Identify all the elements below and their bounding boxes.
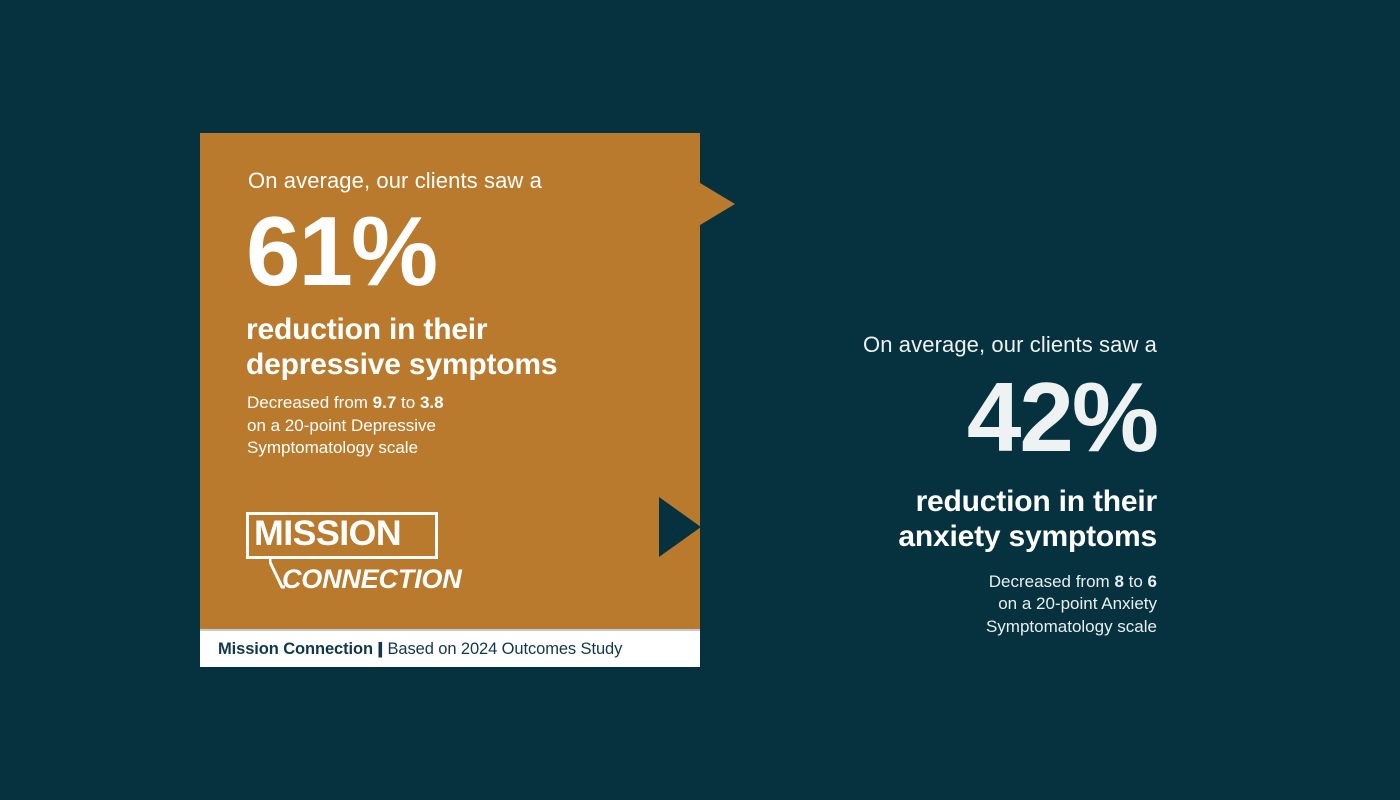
source-footer-text: Mission Connection|Based on 2024 Outcome… [200, 640, 622, 659]
depression-detail-line-1: Decreased from 9.7 to 3.8 [247, 392, 547, 415]
depression-detail-line-2: on a 20-point Depressive [247, 415, 547, 438]
mission-connection-logo: MISSION CONNECTION [246, 512, 446, 594]
anxiety-headline-line-2: anxiety symptoms [755, 519, 1157, 554]
anxiety-stat-card: On average, our clients saw a 42% reduct… [755, 330, 1157, 639]
logo-wordmark-text: MISSION [254, 515, 401, 553]
anxiety-percentage-value: 42% [755, 368, 1157, 468]
depression-headline-line-2: depressive symptoms [246, 347, 666, 382]
logo-subword-text: CONNECTION [282, 564, 462, 594]
anxiety-detail-mid: to [1124, 572, 1148, 591]
depression-score-after: 3.8 [420, 393, 444, 412]
footer-source-label: Based on 2024 Outcomes Study [387, 640, 622, 658]
anxiety-detail-line-3: Symptomatology scale [755, 616, 1157, 639]
source-footer-bar: Mission Connection|Based on 2024 Outcome… [200, 629, 700, 667]
footer-brand-name: Mission Connection [218, 640, 373, 658]
depression-detail-text: Decreased from 9.7 to 3.8 on a 20-point … [247, 392, 547, 460]
depression-percentage-value: 61% [246, 202, 436, 300]
anxiety-detail-line-2: on a 20-point Anxiety [755, 593, 1157, 616]
depression-detail-line-3: Symptomatology scale [247, 437, 547, 460]
anxiety-score-before: 8 [1114, 572, 1123, 591]
anxiety-headline-line-1: reduction in their [755, 484, 1157, 519]
depression-headline: reduction in their depressive symptoms [246, 312, 666, 383]
anxiety-eyebrow-text: On average, our clients saw a [755, 330, 1157, 360]
card-notch-lower-icon [659, 497, 701, 557]
anxiety-headline: reduction in their anxiety symptoms [755, 484, 1157, 555]
anxiety-detail-prefix: Decreased from [989, 572, 1115, 591]
depression-eyebrow-text: On average, our clients saw a [248, 168, 542, 194]
footer-divider: | [368, 640, 393, 659]
card-arrow-tab-upper-icon [700, 183, 735, 225]
anxiety-score-after: 6 [1148, 572, 1157, 591]
anxiety-detail-text: Decreased from 8 to 6 on a 20-point Anxi… [755, 571, 1157, 639]
depression-headline-line-1: reduction in their [246, 312, 666, 347]
anxiety-detail-line-1: Decreased from 8 to 6 [755, 571, 1157, 594]
depression-detail-prefix: Decreased from [247, 393, 373, 412]
depression-score-before: 9.7 [373, 393, 397, 412]
depression-detail-mid: to [396, 393, 420, 412]
